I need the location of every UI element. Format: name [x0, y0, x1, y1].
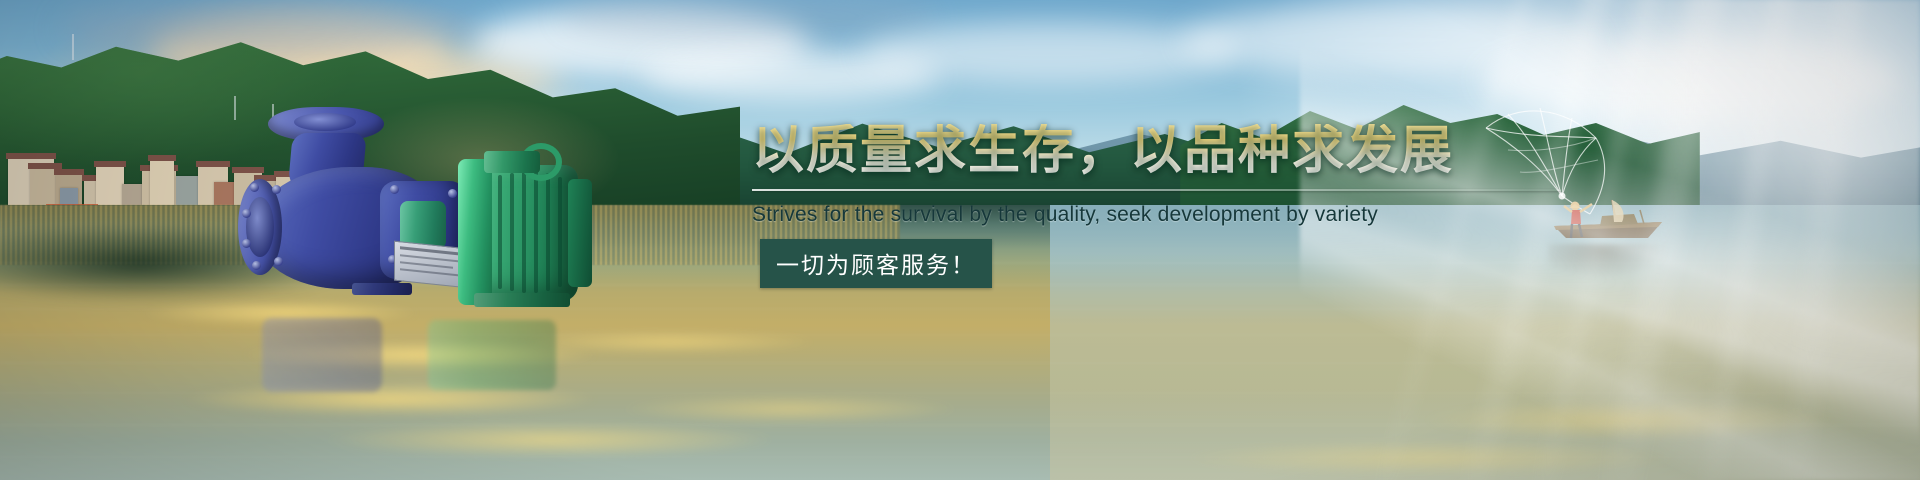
- banner-subtitle: Strives for the survival by the quality,…: [752, 203, 1652, 227]
- service-slogan-badge: 一切为顾客服务！: [760, 239, 992, 288]
- banner-copy: 以质量求生存，以品种求发展 Strives for the survival b…: [752, 124, 1652, 288]
- hero-banner: 以质量求生存，以品种求发展 Strives for the survival b…: [0, 0, 1920, 480]
- headline-divider: [752, 189, 1562, 191]
- banner-headline: 以质量求生存，以品种求发展: [752, 124, 1652, 179]
- centrifugal-pump: [232, 105, 592, 295]
